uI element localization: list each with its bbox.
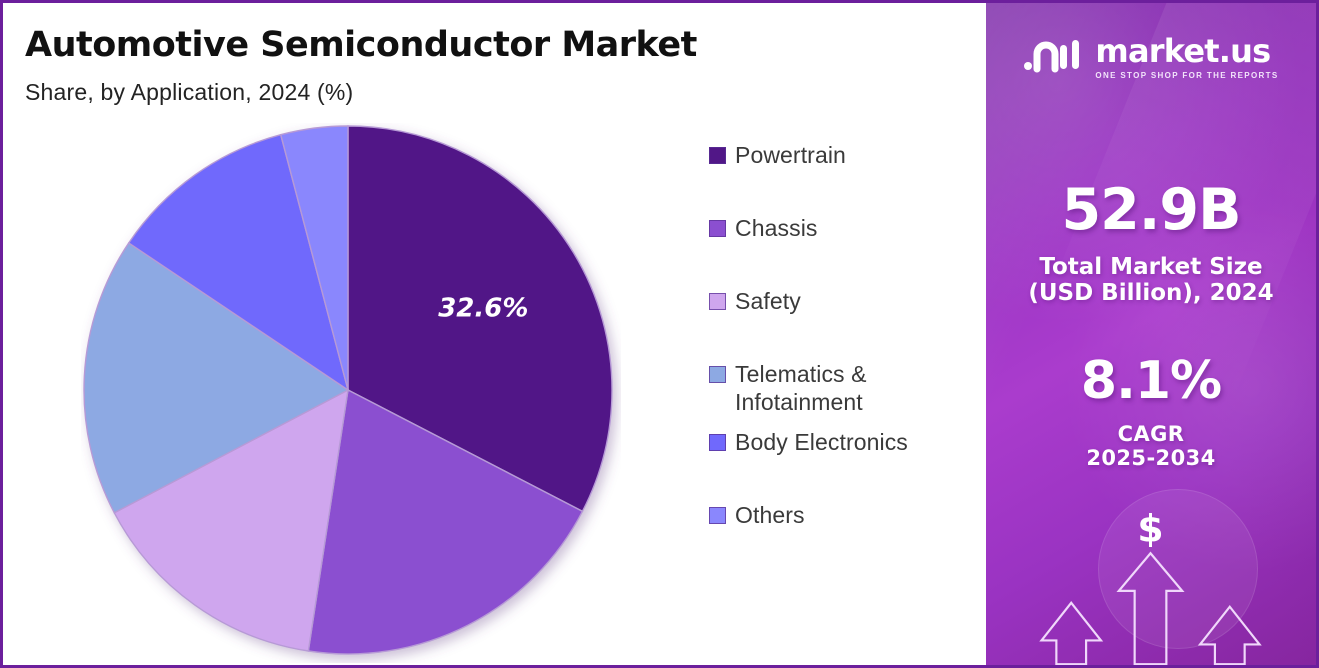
page-subtitle: Share, by Application, 2024 (%) — [25, 79, 353, 106]
stat-market-size-caption-line1: Total Market Size — [1039, 254, 1262, 280]
stat-market-size-caption: Total Market Size (USD Billion), 2024 — [986, 255, 1316, 307]
brand-stats-panel: market.us ONE STOP SHOP FOR THE REPORTS … — [986, 0, 1319, 668]
pie-chart: 32.6% — [81, 123, 621, 663]
legend-label: Powertrain — [735, 141, 846, 169]
legend-swatch-icon — [709, 293, 726, 310]
legend: Powertrain Chassis Safety Telematics & I… — [709, 141, 969, 574]
pie-slice-label-powertrain: 32.6% — [438, 294, 528, 324]
arrow-up-right-icon — [1200, 607, 1259, 664]
pie-slices-group — [84, 126, 612, 654]
legend-item-safety[interactable]: Safety — [709, 287, 969, 315]
stat-cagr-caption: CAGR 2025-2034 — [986, 423, 1316, 470]
legend-swatch-icon — [709, 220, 726, 237]
page-title: Automotive Semiconductor Market — [25, 25, 697, 65]
legend-label: Chassis — [735, 214, 818, 242]
stat-market-size-caption-line2: (USD Billion), 2024 — [1028, 280, 1273, 306]
stat-cagr-value: 8.1% — [986, 351, 1316, 411]
legend-item-powertrain[interactable]: Powertrain — [709, 141, 969, 169]
arrow-up-left-icon — [1041, 603, 1100, 664]
stat-cagr-caption-line1: CAGR — [1118, 422, 1185, 446]
stat-market-size-value: 52.9B — [986, 177, 1316, 243]
market-us-logo-icon — [1023, 35, 1085, 80]
infographic-root: Automotive Semiconductor Market Share, b… — [0, 0, 1319, 668]
brand-tagline: ONE STOP SHOP FOR THE REPORTS — [1095, 71, 1278, 80]
dollar-sign-icon: $ — [1137, 506, 1163, 550]
legend-label: Safety — [735, 287, 801, 315]
brand-name: market.us — [1095, 32, 1270, 70]
legend-item-telematics-infotainment[interactable]: Telematics & Infotainment — [709, 360, 969, 416]
legend-swatch-icon — [709, 507, 726, 524]
legend-label: Telematics & Infotainment — [735, 360, 925, 416]
arrow-up-center-icon — [1119, 553, 1182, 664]
legend-item-chassis[interactable]: Chassis — [709, 214, 969, 242]
legend-swatch-icon — [709, 147, 726, 164]
growth-arrows-icon: $ — [986, 495, 1316, 665]
legend-label: Body Electronics — [735, 428, 908, 456]
chart-panel: Automotive Semiconductor Market Share, b… — [0, 0, 986, 668]
stat-cagr-caption-line2: 2025-2034 — [1086, 446, 1215, 470]
legend-swatch-icon — [709, 434, 726, 451]
brand-logo[interactable]: market.us ONE STOP SHOP FOR THE REPORTS — [986, 35, 1316, 80]
pie-chart-svg: 32.6% — [81, 123, 621, 663]
legend-item-body-electronics[interactable]: Body Electronics — [709, 428, 969, 456]
brand-text-block: market.us ONE STOP SHOP FOR THE REPORTS — [1095, 35, 1278, 80]
legend-swatch-icon — [709, 366, 726, 383]
legend-label: Others — [735, 501, 805, 529]
legend-item-others[interactable]: Others — [709, 501, 969, 529]
